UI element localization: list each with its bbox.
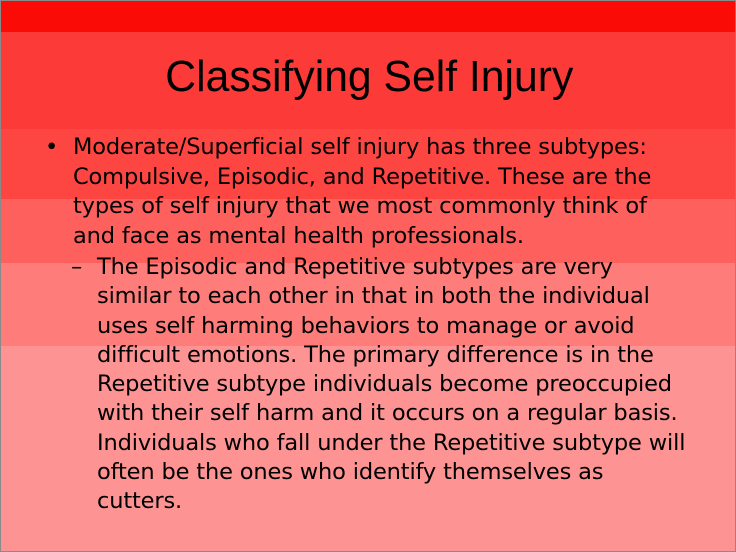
presentation-slide: Classifying Self Injury • Moderate/Super… [0,0,736,552]
page-title: Classifying Self Injury [165,54,573,100]
background-band-0 [1,1,735,32]
slide-title-placeholder: Classifying Self Injury [1,35,736,119]
list-item: – The Episodic and Repetitive subtypes a… [1,253,736,517]
dash-bullet-icon: – [71,253,82,282]
list-item: • Moderate/Superficial self injury has t… [1,133,736,251]
list-item-text: Moderate/Superficial self injury has thr… [73,133,691,251]
slide-body-placeholder: • Moderate/Superficial self injury has t… [1,133,736,517]
list-item-text: The Episodic and Repetitive subtypes are… [97,253,691,517]
round-bullet-icon: • [45,133,58,163]
